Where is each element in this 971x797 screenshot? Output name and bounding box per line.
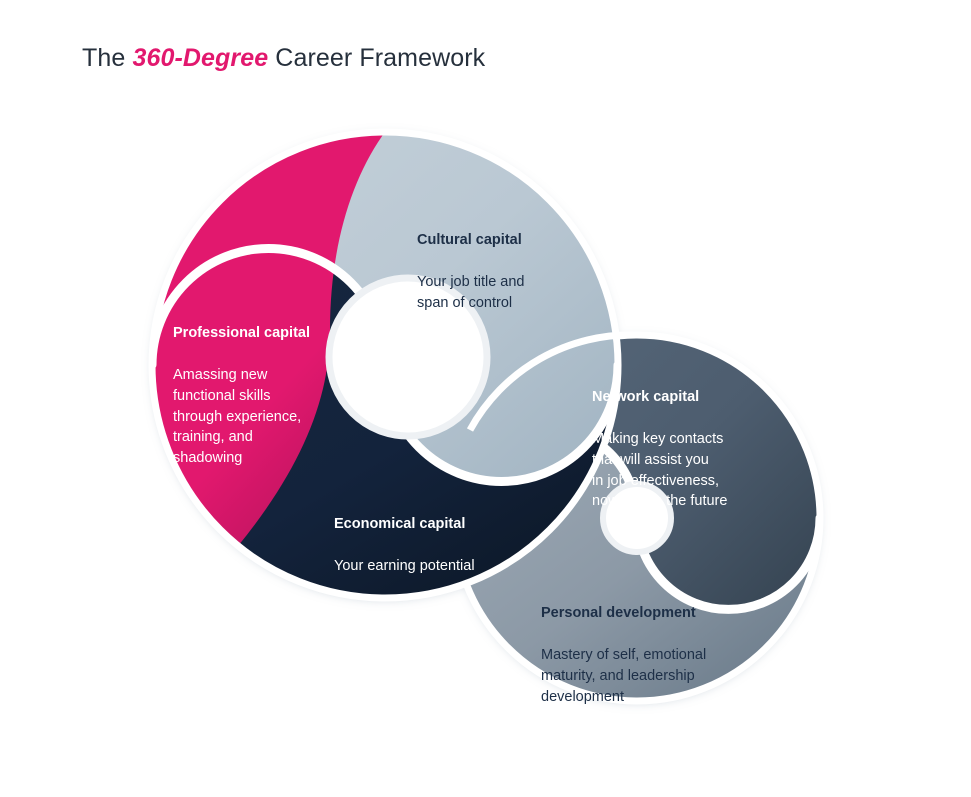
label-economical-capital: Economical capital Your earning potentia… <box>334 493 475 577</box>
label-professional-capital: Professional capital Amassing new functi… <box>173 302 310 469</box>
label-personal-development: Personal development Mastery of self, em… <box>541 582 706 707</box>
label-economical-capital-body: Your earning potential <box>334 558 475 574</box>
career-framework-diagram <box>0 0 971 797</box>
label-network-capital: Network capital Making key contacts that… <box>592 366 727 512</box>
label-cultural-capital-body: Your job title and span of control <box>417 274 525 311</box>
label-cultural-capital-title: Cultural capital <box>417 230 525 251</box>
label-economical-capital-title: Economical capital <box>334 514 475 535</box>
label-professional-capital-title: Professional capital <box>173 323 310 344</box>
label-cultural-capital: Cultural capital Your job title and span… <box>417 209 525 314</box>
label-personal-development-body: Mastery of self, emotional maturity, and… <box>541 647 706 704</box>
label-professional-capital-body: Amassing new functional skills through e… <box>173 367 301 466</box>
label-network-capital-title: Network capital <box>592 387 727 408</box>
label-network-capital-body: Making key contacts that will assist you… <box>592 431 727 509</box>
label-personal-development-title: Personal development <box>541 603 706 624</box>
